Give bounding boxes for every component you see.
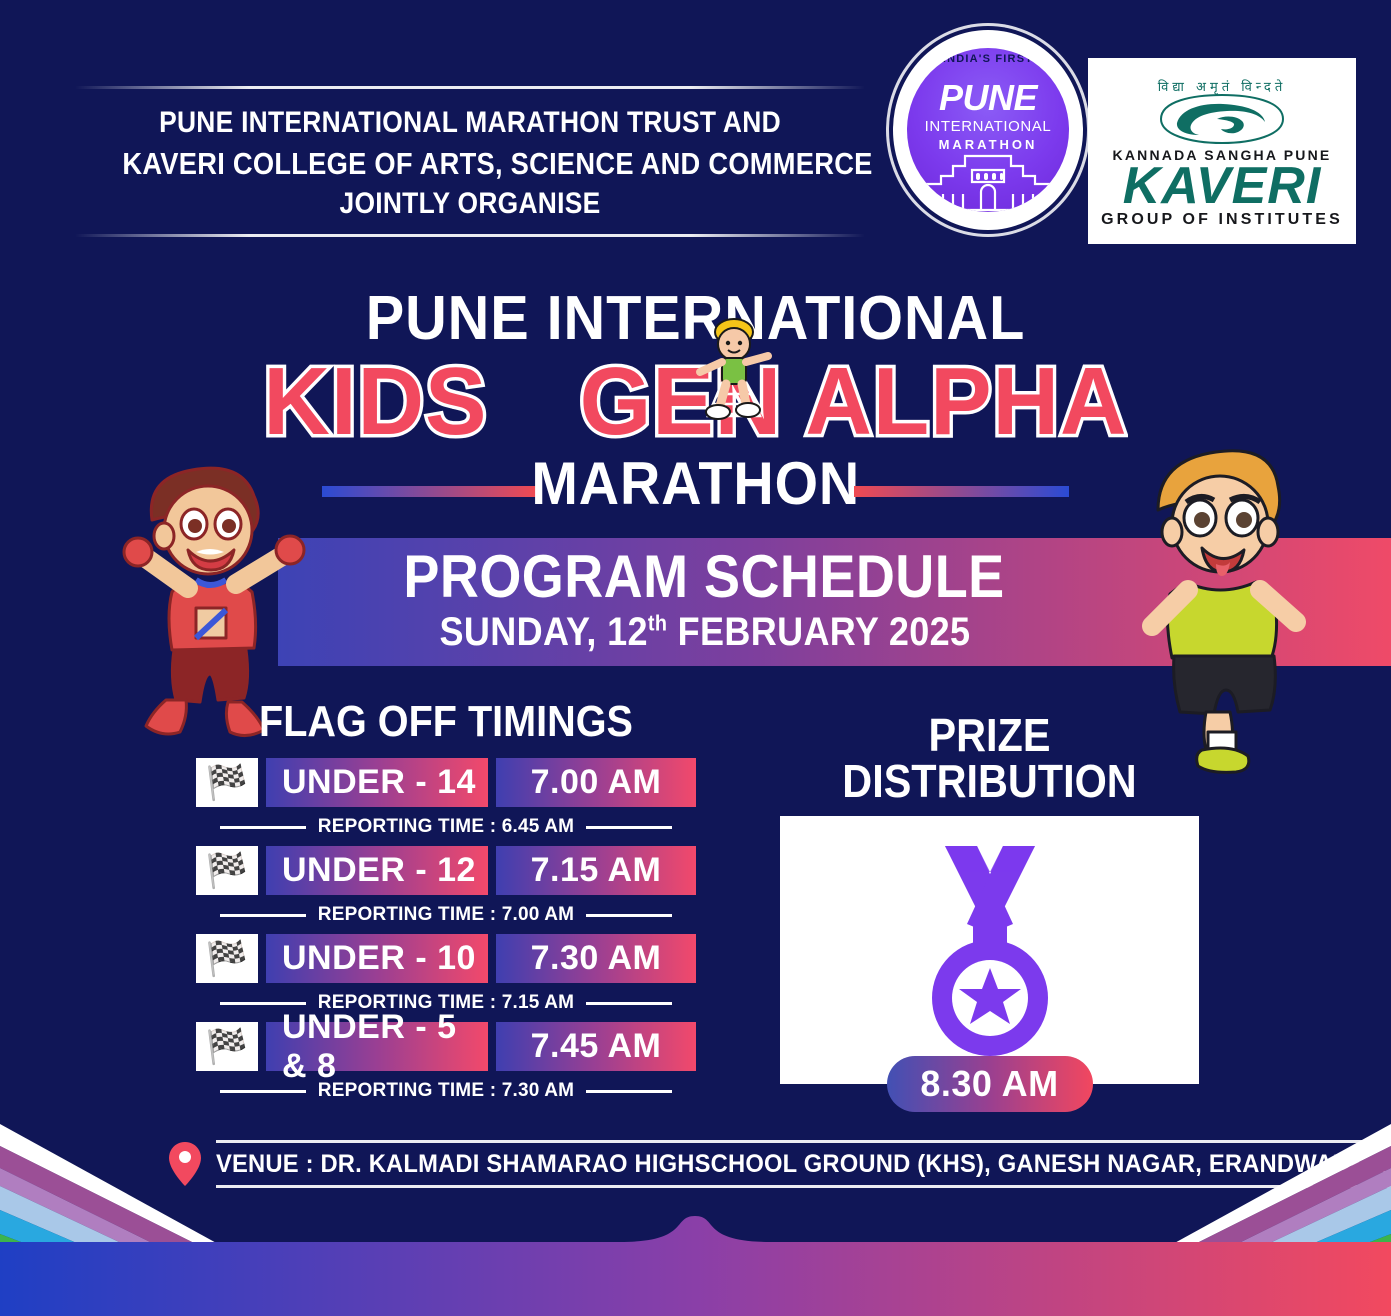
organiser-line-2: KAVERI COLLEGE OF ARTS, SCIENCE AND COMM…	[122, 143, 817, 184]
title-word-kids: KIDS	[263, 348, 487, 455]
reporting-time-row: REPORTING TIME : 7.00 AM	[196, 895, 696, 934]
banner-title: PROGRAM SCHEDULE	[404, 547, 1005, 607]
reporting-time-text: REPORTING TIME : 7.30 AM	[318, 1080, 574, 1102]
schedule-time: 7.45 AM	[496, 1022, 696, 1071]
bottom-gradient-bar	[0, 1216, 1391, 1316]
reporting-time-text: REPORTING TIME : 7.00 AM	[318, 904, 574, 926]
prize-card: 8.30 AM	[780, 816, 1199, 1084]
pune-international-marathon-logo: INDIA'S FIRST PUNE INTERNATIONAL MARATHO…	[893, 30, 1083, 230]
checkered-flag-icon: 🏁	[196, 846, 258, 895]
monument-icon	[919, 150, 1057, 212]
logo-word-international: INTERNATIONAL	[907, 118, 1069, 135]
kaveri-subtitle: GROUP OF INSTITUTES	[1101, 211, 1343, 229]
banner-date: SUNDAY, 12th FEBRUARY 2025	[439, 607, 970, 657]
schedule-category: UNDER - 10	[266, 934, 488, 983]
reporting-rule-left	[220, 914, 306, 917]
reporting-rule-left	[220, 1090, 306, 1093]
organisers-header: PUNE INTERNATIONAL MARATHON TRUST AND KA…	[75, 86, 865, 237]
reporting-time-text: REPORTING TIME : 6.45 AM	[318, 816, 574, 838]
schedule-category: UNDER - 14	[266, 758, 488, 807]
banner-date-prefix: SUNDAY, 12	[439, 610, 647, 654]
title-word-marathon: MARATHON	[531, 454, 860, 514]
reporting-rule-right	[586, 826, 672, 829]
schedule-category: UNDER - 5 & 8	[266, 1022, 488, 1071]
reporting-time-row: REPORTING TIME : 6.45 AM	[196, 807, 696, 846]
header-bottom-rule	[75, 234, 865, 237]
reporting-rule-right	[586, 914, 672, 917]
schedule-row: 🏁 UNDER - 10 7.30 AM	[196, 934, 696, 983]
banner-date-ordinal: th	[647, 611, 666, 636]
schedule-category: UNDER - 12	[266, 846, 488, 895]
schedule-row: 🏁 UNDER - 14 7.00 AM	[196, 758, 696, 807]
reporting-rule-right	[586, 1002, 672, 1005]
banner-date-rest: FEBRUARY 2025	[667, 610, 970, 654]
checkered-flag-icon: 🏁	[196, 934, 258, 983]
prize-heading: PRIZE DISTRIBUTION	[785, 712, 1195, 804]
medal-icon	[885, 838, 1095, 1063]
kaveri-swoosh-icon	[1147, 93, 1297, 145]
kaveri-devanagari-motto: विद्या अमृतं विन्दते	[1158, 77, 1286, 93]
checkered-flag-icon: 🏁	[196, 758, 258, 807]
reporting-rule-left	[220, 826, 306, 829]
kaveri-wordmark: KAVERI	[1123, 163, 1322, 211]
logo-disc: INDIA'S FIRST PUNE INTERNATIONAL MARATHO…	[907, 48, 1069, 212]
title-word-gen-alpha: GEN ALPHA	[580, 348, 1128, 455]
schedule-row: 🏁 UNDER - 5 & 8 7.45 AM	[196, 1022, 696, 1071]
running-kid-icon	[674, 310, 794, 460]
logo-word-pune: PUNE	[907, 80, 1069, 116]
schedule-time: 7.30 AM	[496, 934, 696, 983]
title-rule-left	[322, 486, 537, 497]
organiser-line-3: JOINTLY ORGANISE	[122, 184, 817, 224]
schedule-row: 🏁 UNDER - 12 7.15 AM	[196, 846, 696, 895]
flag-off-section: FLAG OFF TIMINGS 🏁 UNDER - 14 7.00 AM RE…	[196, 700, 696, 1110]
checkered-flag-icon: 🏁	[196, 1022, 258, 1071]
logo-arc-text: INDIA'S FIRST	[907, 53, 1069, 65]
title-rule-right	[854, 486, 1069, 497]
kaveri-group-logo: विद्या अमृतं विन्दते KANNADA SANGHA PUNE…	[1088, 58, 1356, 244]
reporting-rule-right	[586, 1090, 672, 1093]
flag-off-heading: FLAG OFF TIMINGS	[221, 700, 671, 744]
schedule-time: 7.00 AM	[496, 758, 696, 807]
poster-canvas: PUNE INTERNATIONAL MARATHON TRUST AND KA…	[0, 0, 1391, 1316]
reporting-rule-left	[220, 1002, 306, 1005]
schedule-time: 7.15 AM	[496, 846, 696, 895]
organiser-line-1: PUNE INTERNATIONAL MARATHON TRUST AND	[122, 103, 817, 143]
title-line-kids-gen-alpha: KIDSGEN ALPHA	[0, 354, 1391, 452]
prize-distribution-section: PRIZE DISTRIBUTION 8.30 AM	[762, 712, 1217, 1084]
prize-time-pill: 8.30 AM	[887, 1056, 1093, 1112]
